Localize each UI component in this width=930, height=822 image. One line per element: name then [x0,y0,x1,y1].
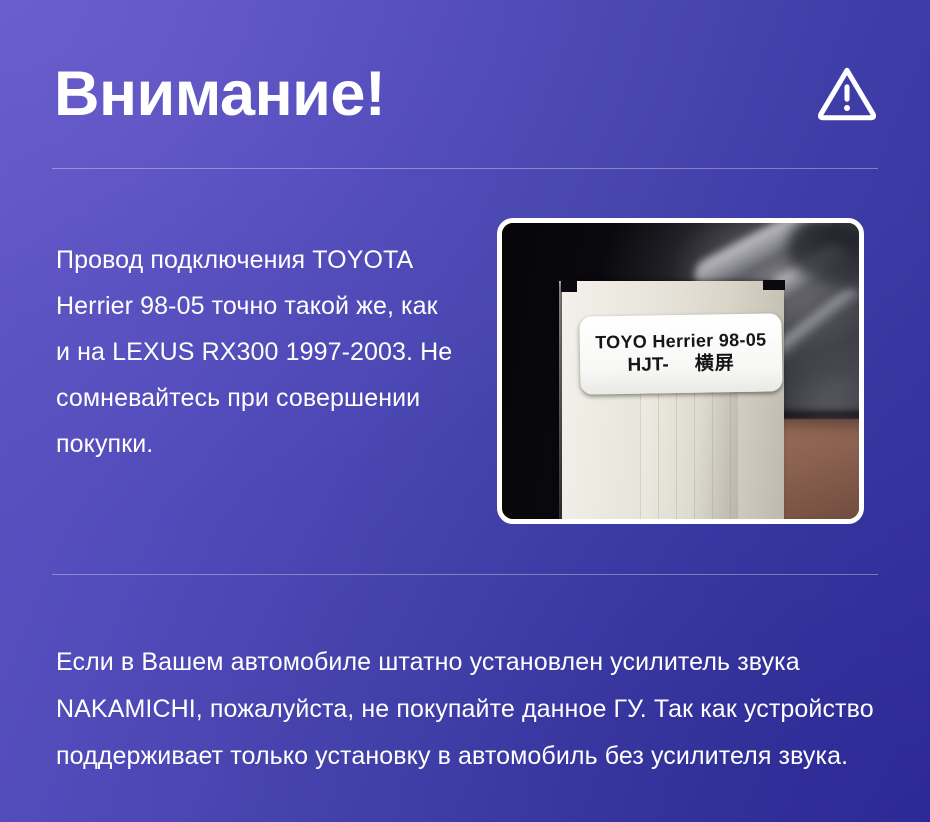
amplifier-warning-paragraph: Если в Вашем автомобиле штатно установле… [56,639,880,780]
product-photo: TOYO Herrier 98-05 HJT-横屏 [502,223,859,519]
banner-header: Внимание! [54,46,880,142]
connector-shaft [640,391,738,519]
divider-middle [52,574,878,575]
warning-banner: Внимание! Провод подключения TOYOTA Herr… [0,0,930,822]
sticker-code-row: HJT-横屏 [580,353,782,379]
middle-section: Провод подключения TOYOTA Herrier 98-05 … [0,200,930,545]
page-title: Внимание! [54,63,385,126]
product-photo-frame: TOYO Herrier 98-05 HJT-横屏 [497,218,864,524]
sticker-cjk-text: 横屏 [695,354,735,376]
sticker-code-text: HJT- [627,355,669,377]
connector-sticker-label: TOYO Herrier 98-05 HJT-横屏 [579,313,782,395]
warning-triangle-icon [816,63,878,125]
sticker-model-text: TOYO Herrier 98-05 [580,329,782,353]
divider-top [52,168,878,169]
compatibility-paragraph: Провод подключения TOYOTA Herrier 98-05 … [56,237,456,467]
